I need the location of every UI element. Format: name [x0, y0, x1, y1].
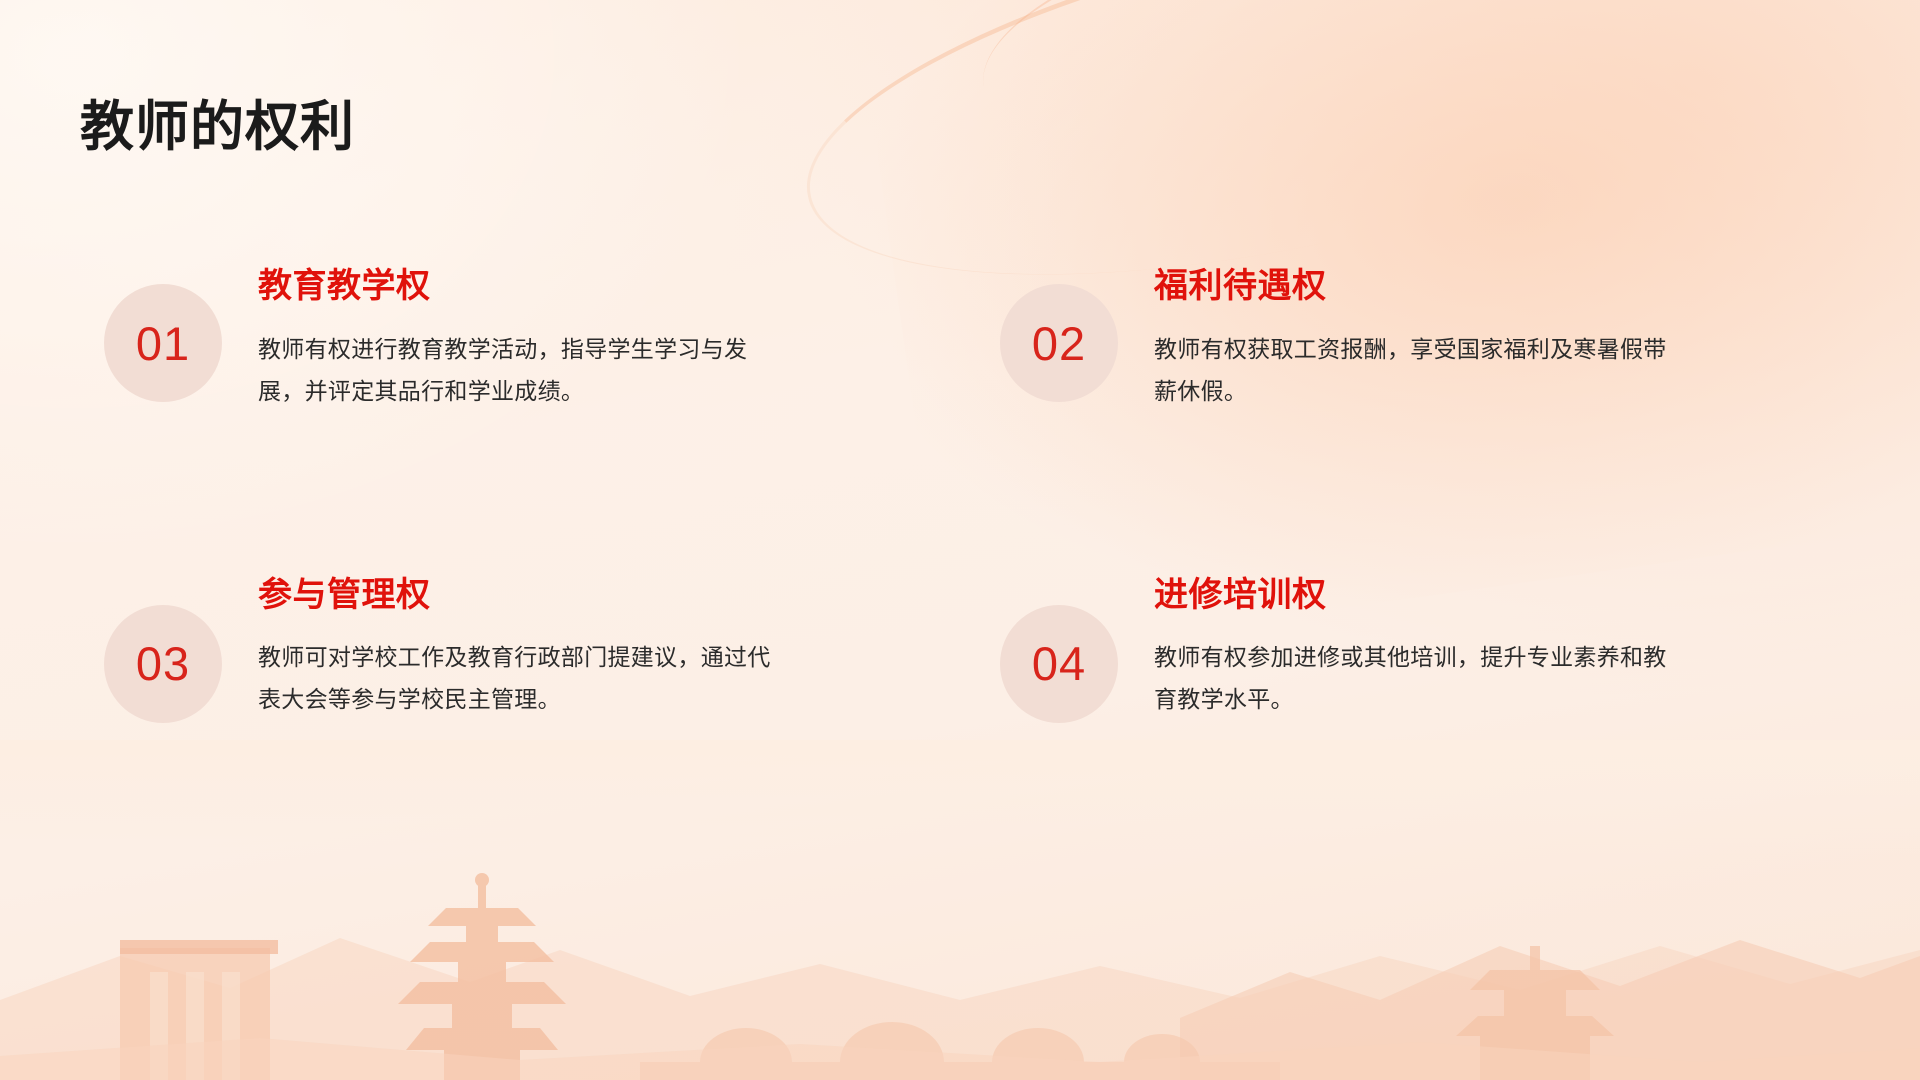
number-label: 01: [136, 320, 190, 367]
slide-canvas: 教师的权利 01 教育教学权 教师有权进行教育教学活动，指导学生学习与发展，并评…: [0, 0, 1920, 1080]
number-label: 02: [1032, 320, 1086, 367]
rights-row-1: 01 教育教学权 教师有权进行教育教学活动，指导学生学习与发展，并评定其品行和学…: [80, 262, 1840, 413]
right-item-02-body: 教师有权获取工资报酬，享受国家福利及寒暑假带薪休假。: [1154, 329, 1684, 413]
right-item-01-heading: 教育教学权: [258, 266, 788, 307]
rights-row-2: 03 参与管理权 教师可对学校工作及教育行政部门提建议，通过代表大会等参与学校民…: [80, 571, 1840, 723]
right-item-01-body: 教师有权进行教育教学活动，指导学生学习与发展，并评定其品行和学业成绩。: [258, 329, 788, 413]
page-title: 教师的权利: [80, 98, 355, 157]
number-label: 04: [1032, 640, 1086, 687]
right-item-04-text: 进修培训权 教师有权参加进修或其他培训，提升专业素养和教育教学水平。: [1118, 571, 1684, 722]
right-item-01[interactable]: 01 教育教学权 教师有权进行教育教学活动，指导学生学习与发展，并评定其品行和学…: [80, 262, 960, 413]
right-item-03[interactable]: 03 参与管理权 教师可对学校工作及教育行政部门提建议，通过代表大会等参与学校民…: [80, 571, 960, 723]
number-badge-04: 04: [1000, 605, 1118, 723]
right-item-04[interactable]: 04 进修培训权 教师有权参加进修或其他培训，提升专业素养和教育教学水平。: [960, 571, 1840, 723]
rights-grid: 01 教育教学权 教师有权进行教育教学活动，指导学生学习与发展，并评定其品行和学…: [80, 262, 1840, 723]
right-item-02[interactable]: 02 福利待遇权 教师有权获取工资报酬，享受国家福利及寒暑假带薪休假。: [960, 262, 1840, 413]
right-item-03-text: 参与管理权 教师可对学校工作及教育行政部门提建议，通过代表大会等参与学校民主管理…: [222, 571, 788, 722]
slide-content: 教师的权利 01 教育教学权 教师有权进行教育教学活动，指导学生学习与发展，并评…: [0, 0, 1920, 1080]
number-label: 03: [136, 640, 190, 687]
right-item-04-heading: 进修培训权: [1154, 575, 1684, 616]
number-badge-01: 01: [104, 284, 222, 402]
right-item-04-body: 教师有权参加进修或其他培训，提升专业素养和教育教学水平。: [1154, 637, 1684, 721]
right-item-02-text: 福利待遇权 教师有权获取工资报酬，享受国家福利及寒暑假带薪休假。: [1118, 262, 1684, 413]
right-item-01-text: 教育教学权 教师有权进行教育教学活动，指导学生学习与发展，并评定其品行和学业成绩…: [222, 262, 788, 413]
number-badge-03: 03: [104, 605, 222, 723]
right-item-03-heading: 参与管理权: [258, 575, 788, 616]
number-badge-02: 02: [1000, 284, 1118, 402]
right-item-03-body: 教师可对学校工作及教育行政部门提建议，通过代表大会等参与学校民主管理。: [258, 637, 788, 721]
right-item-02-heading: 福利待遇权: [1154, 266, 1684, 307]
